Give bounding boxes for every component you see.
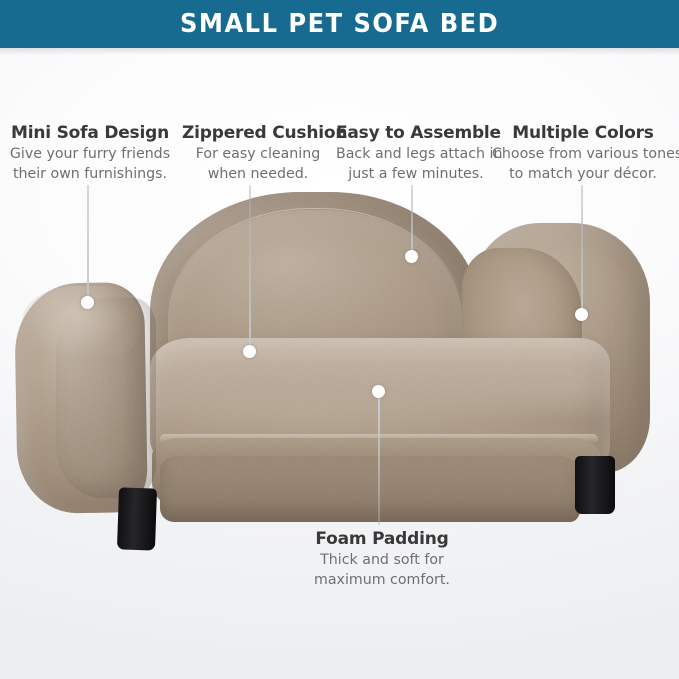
- marker-dot-mini-sofa-design: [81, 296, 94, 309]
- leader-line-zippered-cushion: [249, 185, 251, 346]
- callout-line-2: just a few minutes.: [336, 165, 496, 183]
- leader-line-foam-padding: [378, 398, 380, 525]
- callout-line-2: when needed.: [182, 165, 334, 183]
- callout-line-1: Choose from various tones: [492, 145, 674, 163]
- header-shadow: [0, 48, 679, 55]
- leader-line-easy-to-assemble: [411, 185, 413, 251]
- callout-title: Mini Sofa Design: [6, 123, 174, 143]
- callout-title: Foam Padding: [286, 529, 478, 549]
- callout-zippered-cushion: Zippered Cushion For easy cleaning when …: [182, 123, 334, 183]
- callout-foam-padding: Foam Padding Thick and soft for maximum …: [286, 529, 478, 589]
- callout-title: Multiple Colors: [492, 123, 674, 143]
- sofa-leg-front-left: [117, 487, 157, 550]
- leader-line-mini-sofa-design: [87, 185, 89, 297]
- marker-dot-zippered-cushion: [243, 345, 256, 358]
- callout-line-1: For easy cleaning: [182, 145, 334, 163]
- page-title: SMALL PET SOFA BED: [180, 9, 499, 39]
- callout-line-2: their own furnishings.: [6, 165, 174, 183]
- callout-line-1: Thick and soft for: [286, 551, 478, 569]
- sofa-leg-front-right: [575, 456, 615, 514]
- marker-dot-foam-padding: [372, 385, 385, 398]
- product-image: [0, 188, 679, 538]
- callout-line-1: Give your furry friends: [6, 145, 174, 163]
- infographic-page: SMALL PET SOFA BED Mini Sofa Design Give: [0, 0, 679, 679]
- callout-line-1: Back and legs attach in: [336, 145, 496, 163]
- marker-dot-easy-to-assemble: [405, 250, 418, 263]
- sofa-arm-left-highlight: [22, 286, 140, 356]
- callout-line-2: maximum comfort.: [286, 571, 478, 589]
- callout-title: Easy to Assemble: [336, 123, 496, 143]
- callout-multiple-colors: Multiple Colors Choose from various tone…: [492, 123, 674, 183]
- callout-title: Zippered Cushion: [182, 123, 334, 143]
- callout-mini-sofa-design: Mini Sofa Design Give your furry friends…: [6, 123, 174, 183]
- callout-easy-to-assemble: Easy to Assemble Back and legs attach in…: [336, 123, 496, 183]
- sofa-base: [160, 456, 580, 522]
- callout-line-2: to match your décor.: [492, 165, 674, 183]
- marker-dot-multiple-colors: [575, 308, 588, 321]
- header-bar: SMALL PET SOFA BED: [0, 0, 679, 48]
- leader-line-multiple-colors: [581, 185, 583, 309]
